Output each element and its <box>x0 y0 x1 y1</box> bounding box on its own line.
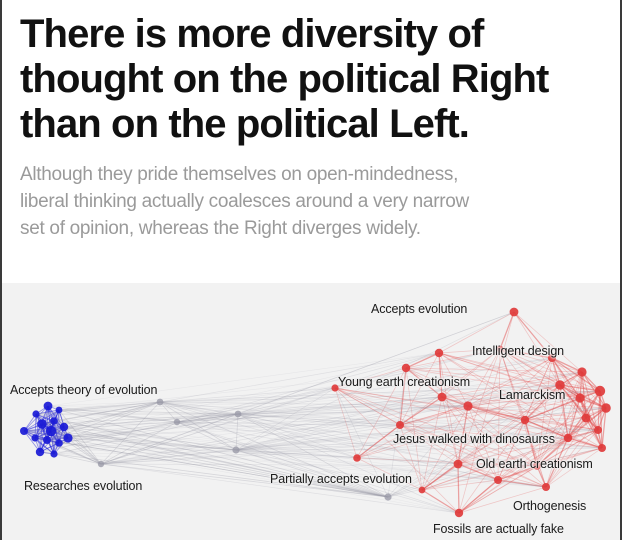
graph-node[interactable] <box>598 444 606 452</box>
graph-node[interactable] <box>548 354 556 362</box>
graph-node[interactable] <box>157 399 164 406</box>
network-graph-panel: Accepts theory of evolutionResearches ev… <box>2 283 620 540</box>
graph-node[interactable] <box>577 367 586 376</box>
header-section: There is more diversity of thought on th… <box>2 0 620 283</box>
page-title: There is more diversity of thought on th… <box>20 12 602 147</box>
graph-node[interactable] <box>533 462 541 470</box>
graph-node[interactable] <box>31 434 38 441</box>
graph-node[interactable] <box>454 460 463 469</box>
graph-node[interactable] <box>384 493 391 500</box>
graph-node[interactable] <box>396 421 404 429</box>
graph-node[interactable] <box>542 483 550 491</box>
graph-node[interactable] <box>55 439 63 447</box>
graph-node[interactable] <box>56 407 63 414</box>
graph-node[interactable] <box>419 487 426 494</box>
graph-node[interactable] <box>46 426 56 436</box>
graph-edge <box>59 385 560 410</box>
graph-edge <box>388 385 560 497</box>
graph-node[interactable] <box>36 448 44 456</box>
graph-node[interactable] <box>521 416 529 424</box>
graph-node[interactable] <box>435 349 443 357</box>
graph-node[interactable] <box>463 401 472 410</box>
graph-node[interactable] <box>594 426 602 434</box>
graph-edge <box>35 414 36 438</box>
graph-node[interactable] <box>232 446 239 453</box>
infographic-page: There is more diversity of thought on th… <box>0 0 622 540</box>
graph-node[interactable] <box>50 450 57 457</box>
graph-node[interactable] <box>174 419 180 425</box>
graph-node[interactable] <box>555 380 565 390</box>
graph-node[interactable] <box>595 386 605 396</box>
graph-node[interactable] <box>98 461 104 467</box>
graph-node[interactable] <box>402 364 410 372</box>
page-subtitle: Although they pride themselves on open-m… <box>20 161 602 242</box>
graph-node[interactable] <box>575 393 584 402</box>
graph-node[interactable] <box>20 427 28 435</box>
graph-node[interactable] <box>331 384 338 391</box>
graph-edges-layer <box>24 312 606 513</box>
graph-edge <box>459 487 546 513</box>
graph-node[interactable] <box>43 436 51 444</box>
graph-node[interactable] <box>564 434 572 442</box>
graph-node[interactable] <box>510 308 519 317</box>
graph-node[interactable] <box>353 454 361 462</box>
graph-node[interactable] <box>438 393 447 402</box>
network-graph-svg <box>2 283 620 540</box>
graph-edge <box>500 349 582 372</box>
graph-node[interactable] <box>582 414 591 423</box>
graph-node[interactable] <box>60 423 68 431</box>
graph-node[interactable] <box>494 476 502 484</box>
graph-node[interactable] <box>497 346 504 353</box>
graph-node[interactable] <box>32 410 39 417</box>
graph-node[interactable] <box>235 411 242 418</box>
graph-edge <box>40 452 388 497</box>
graph-edge <box>514 312 552 358</box>
graph-node[interactable] <box>44 402 53 411</box>
graph-node[interactable] <box>601 403 611 413</box>
graph-node[interactable] <box>37 419 47 429</box>
graph-node[interactable] <box>63 433 72 442</box>
graph-node[interactable] <box>455 509 463 517</box>
graph-edge <box>64 427 459 513</box>
graph-node[interactable] <box>50 417 58 425</box>
graph-edge <box>439 312 514 353</box>
